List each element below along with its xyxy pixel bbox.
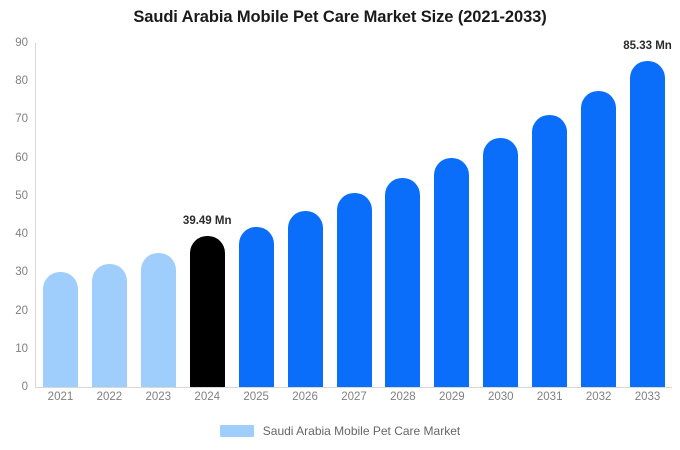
bar-2031[interactable] [532, 43, 567, 387]
bar-2032[interactable] [581, 43, 616, 387]
x-axis-tick-label: 2033 [618, 391, 678, 403]
y-axis-tick-label: 60 [15, 152, 36, 164]
bar-2026[interactable] [288, 43, 323, 387]
bar-2027[interactable] [337, 43, 372, 387]
y-axis-tick-label: 70 [15, 113, 36, 125]
y-axis-tick-label: 90 [15, 37, 36, 49]
bar-rect[interactable] [288, 211, 323, 387]
x-axis-line [35, 387, 672, 388]
bar-rect[interactable] [337, 193, 372, 387]
bar-value-label-2024: 39.49 Mn [157, 215, 257, 227]
chart-title: Saudi Arabia Mobile Pet Care Market Size… [0, 8, 680, 27]
bar-rect[interactable] [483, 138, 518, 387]
y-axis-tick-label: 20 [15, 305, 36, 317]
bar-2028[interactable] [385, 43, 420, 387]
bar-rect[interactable] [532, 115, 567, 387]
chart-legend: Saudi Arabia Mobile Pet Care Market [0, 424, 680, 438]
bar-rect[interactable] [385, 178, 420, 387]
legend-label: Saudi Arabia Mobile Pet Care Market [263, 424, 460, 438]
bar-2033[interactable] [630, 43, 665, 387]
chart-container: Saudi Arabia Mobile Pet Care Market Size… [0, 0, 680, 450]
bar-2022[interactable] [92, 43, 127, 387]
bar-rect[interactable] [92, 264, 127, 387]
y-axis-tick-label: 10 [15, 343, 36, 355]
y-axis-tick-label: 50 [15, 190, 36, 202]
bar-rect[interactable] [434, 158, 469, 387]
bar-2021[interactable] [43, 43, 78, 387]
y-axis-tick-label: 30 [15, 266, 36, 278]
bar-rect[interactable] [630, 61, 665, 387]
bar-rect[interactable] [239, 227, 274, 387]
y-axis-tick-label: 40 [15, 228, 36, 240]
y-axis-tick-label: 80 [15, 75, 36, 87]
bar-2029[interactable] [434, 43, 469, 387]
bar-2030[interactable] [483, 43, 518, 387]
bar-rect[interactable] [141, 253, 176, 387]
bar-rect[interactable] [190, 236, 225, 387]
bar-rect[interactable] [581, 91, 616, 387]
legend-swatch-icon [220, 425, 254, 437]
bar-value-label-2033: 85.33 Mn [598, 40, 680, 52]
plot-area: 0102030405060708090 20212022202320242025… [36, 43, 672, 387]
bar-rect[interactable] [43, 272, 78, 387]
